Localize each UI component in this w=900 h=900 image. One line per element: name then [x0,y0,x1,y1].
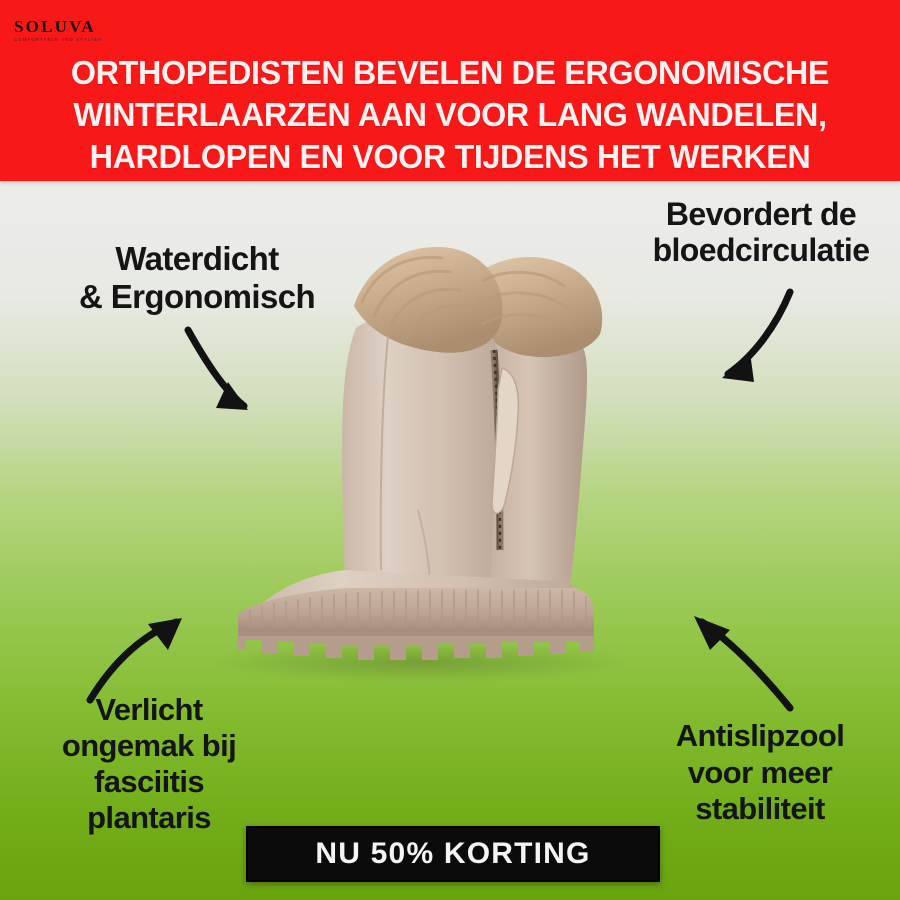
annotation-waterdicht-line-2: & Ergonomisch [32,278,362,316]
boot-main-shaft [342,308,500,602]
boot-outsole-shadow [238,628,594,636]
annotation-antislipzool-line-2: voor meer [620,755,900,792]
advertisement-banner: SOLUVA COMFORTABLE AND STYLISH ORTHOPEDI… [0,0,900,900]
headline-line-3: HARDLOPEN EN VOOR TIJDENS HET WERKEN [9,136,891,178]
annotation-fasciitis-line-4: plantaris [18,800,280,836]
curved-arrow-down-left-icon [678,282,810,396]
curved-arrow-up-left-icon [666,596,812,720]
headline-line-2: WINTERLAARZEN AAN VOOR LANG WANDELEN, [9,94,891,136]
annotation-fasciitis-line-1: Verlicht [18,692,280,728]
brand-logo-name: SOLUVA [14,18,124,35]
discount-label: NU 50% KORTING [315,837,590,871]
annotation-waterdicht-line-1: Waterdicht [32,240,362,278]
brand-logo-tagline: COMFORTABLE AND STYLISH [14,38,124,42]
headline-line-1: ORTHOPEDISTEN BEVELEN DE ERGONOMISCHE [9,52,891,94]
discount-badge[interactable]: NU 50% KORTING [246,826,660,882]
headline: ORTHOPEDISTEN BEVELEN DE ERGONOMISCHE WI… [9,52,891,178]
header-banner: SOLUVA COMFORTABLE AND STYLISH ORTHOPEDI… [0,0,900,181]
annotation-label-waterdicht: Waterdicht & Ergonomisch [32,240,362,315]
annotation-label-antislipzool: Antislipzool voor meer stabiliteit [620,718,900,828]
brand-logo: SOLUVA COMFORTABLE AND STYLISH [14,18,124,42]
annotation-bloedcirculatie-line-2: bloedcirculatie [620,232,900,268]
annotation-fasciitis-line-3: fasciitis [18,764,280,800]
annotation-fasciitis-line-2: ongemak bij [18,728,280,764]
annotation-label-fasciitis: Verlicht ongemak bij fasciitis plantaris [18,692,280,836]
annotation-label-bloedcirculatie: Bevordert de bloedcirculatie [620,196,900,269]
annotation-antislipzool-line-3: stabiliteit [620,791,900,828]
annotation-antislipzool-line-1: Antislipzool [620,718,900,755]
annotation-bloedcirculatie-line-1: Bevordert de [620,196,900,232]
